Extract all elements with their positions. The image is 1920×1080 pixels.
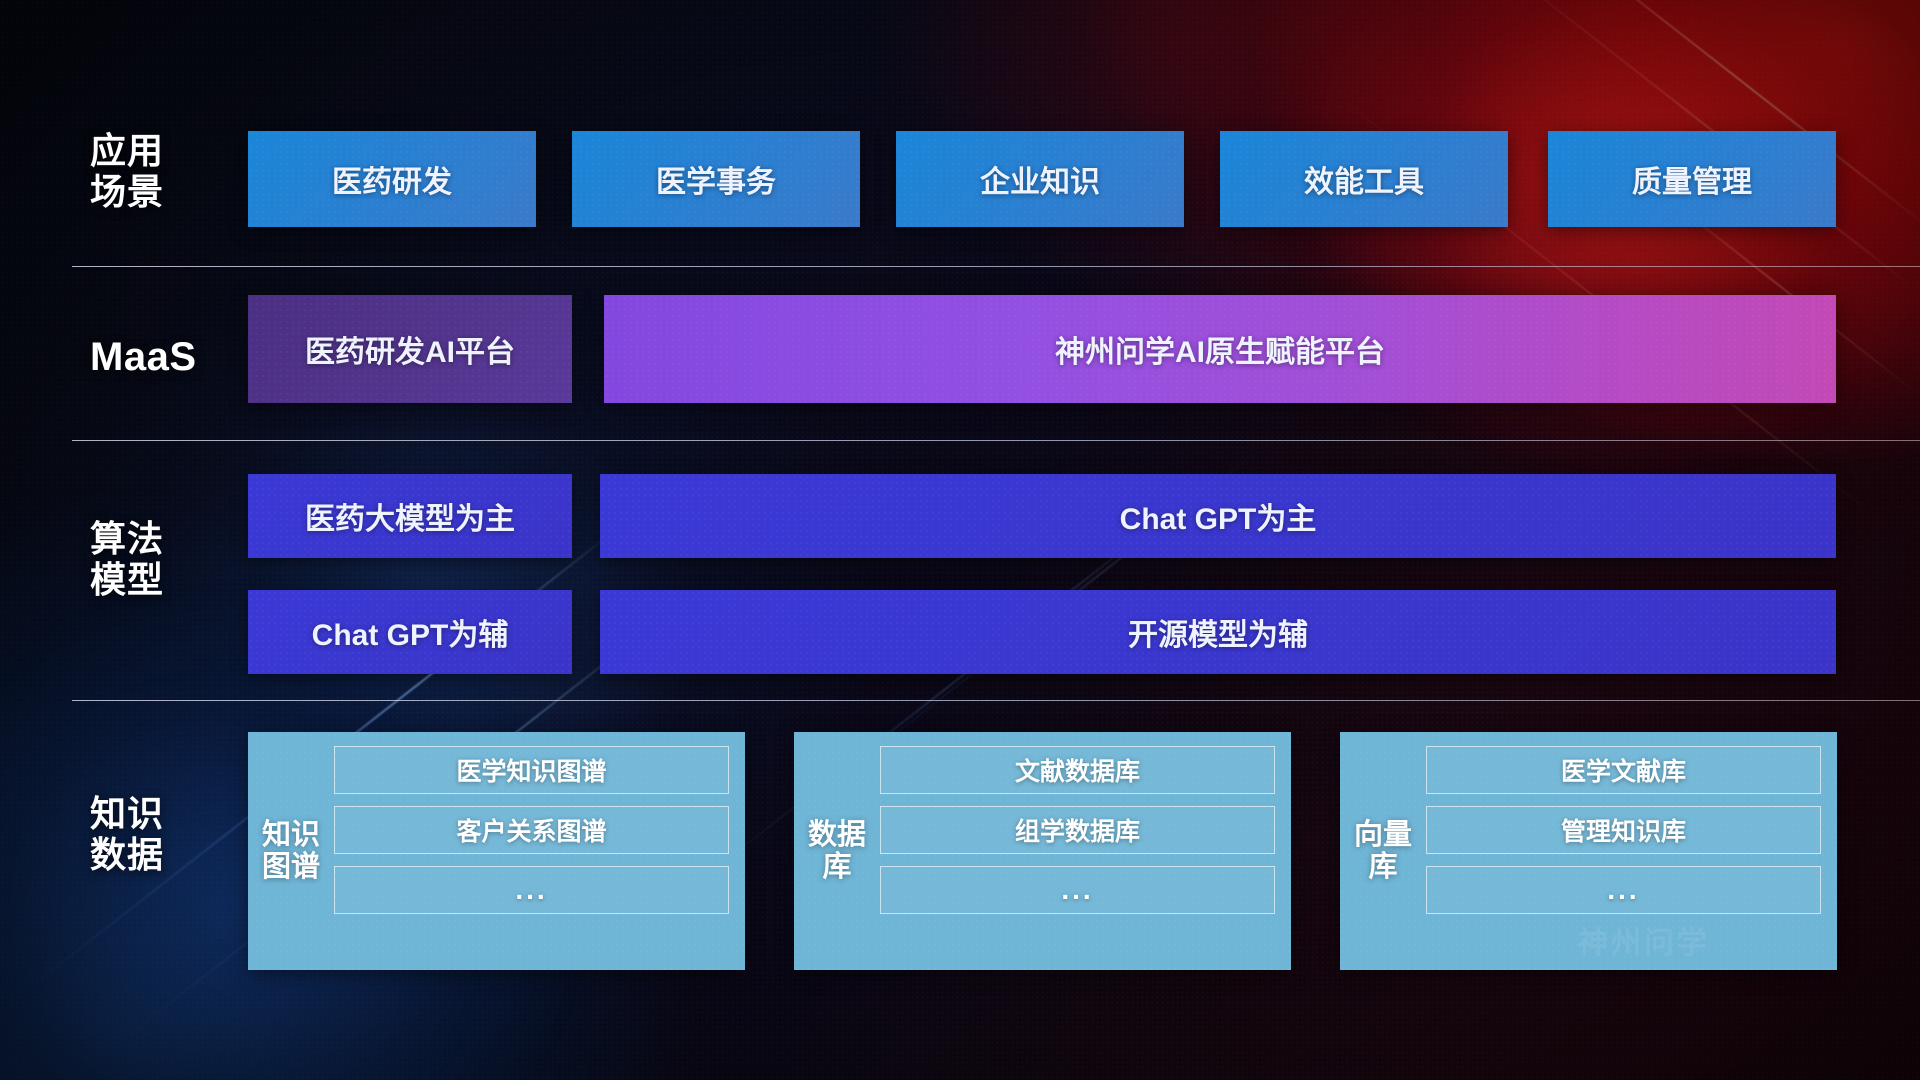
app-card-4[interactable]: 效能工具 — [1220, 131, 1508, 227]
knowledge-group-items: 医学文献库 管理知识库 ... — [1426, 746, 1821, 956]
row-label-maas: MaaS — [90, 335, 240, 381]
row-label-line: MaaS — [90, 335, 240, 381]
divider-1 — [72, 266, 1920, 267]
algo-card-label: Chat GPT为主 — [1120, 494, 1317, 538]
app-card-2[interactable]: 医学事务 — [572, 131, 860, 227]
knowledge-item[interactable]: 医学知识图谱 — [334, 746, 729, 794]
row-label-line: 模型 — [90, 559, 240, 600]
maas-card-shenzhou-platform[interactable]: 神州问学AI原生赋能平台 — [604, 295, 1836, 403]
knowledge-item[interactable]: 文献数据库 — [880, 746, 1275, 794]
app-card-label: 医学事务 — [656, 157, 776, 201]
knowledge-group-title: 数据库 — [808, 746, 866, 956]
row-label-algorithm-models: 算法 模型 — [90, 518, 240, 600]
knowledge-group-title: 知识图谱 — [262, 746, 320, 956]
knowledge-item[interactable]: 客户关系图谱 — [334, 806, 729, 854]
maas-card-label: 神州问学AI原生赋能平台 — [1055, 327, 1385, 371]
algo-card-medical-primary[interactable]: 医药大模型为主 — [248, 474, 572, 558]
knowledge-group-items: 文献数据库 组学数据库 ... — [880, 746, 1275, 956]
app-card-1[interactable]: 医药研发 — [248, 131, 536, 227]
app-card-5[interactable]: 质量管理 — [1548, 131, 1836, 227]
knowledge-group-title: 向量库 — [1354, 746, 1412, 956]
app-card-label: 质量管理 — [1632, 157, 1752, 201]
divider-3 — [72, 700, 1920, 701]
knowledge-group-items: 医学知识图谱 客户关系图谱 ... — [334, 746, 729, 956]
maas-card-label: 医药研发AI平台 — [305, 327, 515, 371]
divider-2 — [72, 440, 1920, 441]
app-card-label: 企业知识 — [980, 157, 1100, 201]
knowledge-item-more[interactable]: ... — [334, 866, 729, 914]
algo-card-opensource-secondary[interactable]: 开源模型为辅 — [600, 590, 1836, 674]
knowledge-item-more[interactable]: ... — [1426, 866, 1821, 914]
algo-card-chatgpt-secondary[interactable]: Chat GPT为辅 — [248, 590, 572, 674]
row-label-line: 数据 — [90, 834, 240, 875]
knowledge-group-graph[interactable]: 知识图谱 医学知识图谱 客户关系图谱 ... — [248, 732, 745, 970]
app-card-label: 医药研发 — [332, 157, 452, 201]
maas-card-medical-platform[interactable]: 医药研发AI平台 — [248, 295, 572, 403]
knowledge-item[interactable]: 医学文献库 — [1426, 746, 1821, 794]
row-label-line: 场景 — [90, 171, 240, 212]
knowledge-item[interactable]: 组学数据库 — [880, 806, 1275, 854]
algo-card-label: 医药大模型为主 — [305, 494, 515, 538]
row-label-line: 知识 — [90, 793, 240, 834]
knowledge-group-database[interactable]: 数据库 文献数据库 组学数据库 ... — [794, 732, 1291, 970]
knowledge-item-more[interactable]: ... — [880, 866, 1275, 914]
row-label-application-scenarios: 应用 场景 — [90, 130, 240, 212]
architecture-diagram: 应用 场景 医药研发 医学事务 企业知识 效能工具 质量管理 MaaS 医药研发… — [0, 0, 1920, 1080]
knowledge-group-vector[interactable]: 向量库 医学文献库 管理知识库 ... — [1340, 732, 1837, 970]
algo-card-chatgpt-primary[interactable]: Chat GPT为主 — [600, 474, 1836, 558]
algo-card-label: Chat GPT为辅 — [312, 610, 509, 654]
row-label-line: 应用 — [90, 130, 240, 171]
row-label-line: 算法 — [90, 518, 240, 559]
app-card-3[interactable]: 企业知识 — [896, 131, 1184, 227]
row-label-knowledge-data: 知识 数据 — [90, 793, 240, 875]
app-card-label: 效能工具 — [1304, 157, 1424, 201]
algo-card-label: 开源模型为辅 — [1128, 610, 1308, 654]
knowledge-item[interactable]: 管理知识库 — [1426, 806, 1821, 854]
